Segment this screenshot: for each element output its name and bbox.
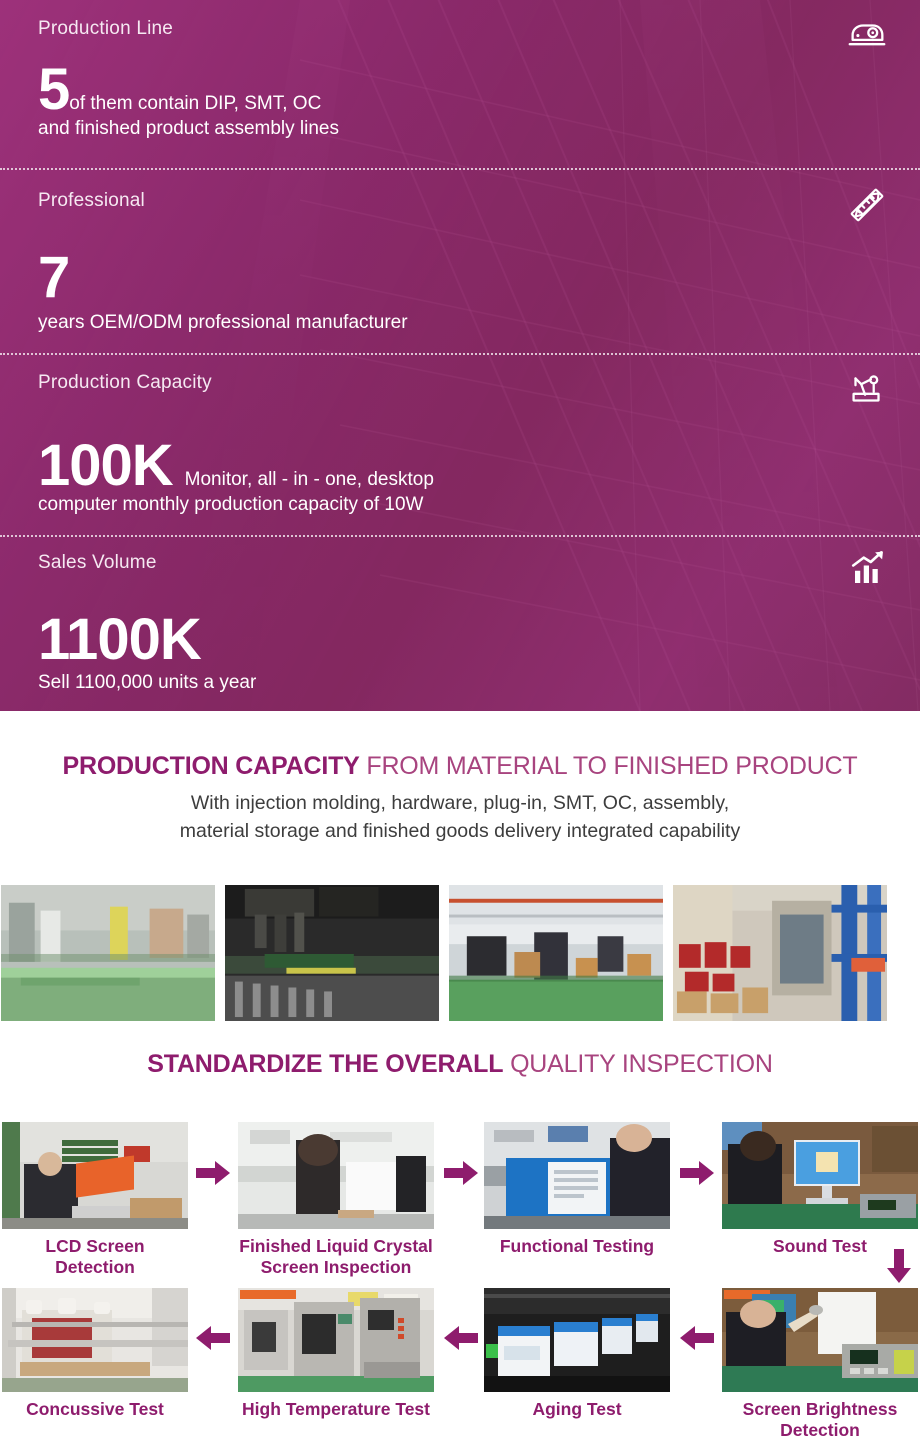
stat-desc-line2: and finished product assembly lines: [38, 117, 882, 141]
high-temperature-test-photo: [238, 1288, 434, 1392]
qc-step-high-temperature-test: High Temperature Test: [238, 1288, 434, 1420]
concussive-test-photo: [2, 1288, 188, 1392]
stat-number: 1100K: [38, 612, 201, 667]
arrow-down-1-icon: [886, 1249, 912, 1283]
qc-step-screen-brightness-detection: Screen Brightness Detection: [722, 1288, 918, 1440]
stat-production-line: Production Line 5of them contain DIP, SM…: [0, 18, 920, 141]
stat-professional: Professional 7 years OEM/ODM professiona…: [0, 190, 920, 335]
sound-test-photo: [722, 1122, 918, 1229]
stat-desc-line2: years OEM/ODM professional manufacturer: [38, 311, 882, 335]
screen-brightness-photo: [722, 1288, 918, 1392]
functional-testing-photo: [484, 1122, 670, 1229]
capacity-photo-row: [0, 884, 920, 1022]
qc-caption: Screen Brightness Detection: [722, 1399, 918, 1440]
aging-test-photo: [484, 1288, 670, 1392]
arrow-right-2-icon: [444, 1160, 478, 1186]
quality-inspection-section: STANDARDIZE THE OVERALL QUALITY INSPECTI…: [0, 1050, 920, 1079]
quality-inspection-title: STANDARDIZE THE OVERALL QUALITY INSPECTI…: [0, 1050, 920, 1079]
section-divider-2: [0, 353, 920, 355]
ruler-pen-icon: [844, 182, 890, 228]
qc-caption: Finished Liquid Crystal Screen Inspectio…: [238, 1236, 434, 1277]
arrow-right-1-icon: [196, 1160, 230, 1186]
production-capacity-section: PRODUCTION CAPACITY FROM MATERIAL TO FIN…: [0, 752, 920, 846]
production-capacity-title: PRODUCTION CAPACITY FROM MATERIAL TO FIN…: [0, 752, 920, 781]
stat-number: 5: [38, 62, 69, 117]
injection-molding-workshop-photo: [0, 884, 216, 1022]
finished-lcd-inspection-photo: [238, 1122, 434, 1229]
qc-step-sound-test: Sound Test: [722, 1122, 918, 1257]
stat-label: Sales Volume: [38, 552, 882, 574]
hero-stats-banner: Production Line 5of them contain DIP, SM…: [0, 0, 920, 711]
stat-desc-line2: computer monthly production capacity of …: [38, 493, 882, 517]
qc-caption: Aging Test: [484, 1399, 670, 1420]
machine-roller-icon: [844, 14, 890, 60]
qc-caption: LCD Screen Detection: [2, 1236, 188, 1277]
stat-number: 7: [38, 250, 69, 305]
warehouse-storage-photo: [672, 884, 888, 1022]
qc-step-functional-testing: Functional Testing: [484, 1122, 670, 1257]
qc-step-finished-lcd-inspection: Finished Liquid Crystal Screen Inspectio…: [238, 1122, 434, 1277]
stat-production-capacity: Production Capacity 100KMonitor, all - i…: [0, 372, 920, 517]
stat-desc-line2: Sell 1100,000 units a year: [38, 671, 882, 695]
arrow-left-3-icon: [196, 1325, 230, 1351]
growth-chart-icon: [848, 548, 890, 590]
title-bold-part: PRODUCTION CAPACITY: [62, 752, 359, 780]
stat-desc-inline: Monitor, all - in - one, desktop: [173, 469, 434, 490]
smt-machine-line-photo: [224, 884, 440, 1022]
section-divider-1: [0, 168, 920, 170]
qc-step-aging-test: Aging Test: [484, 1288, 670, 1420]
arrow-left-1-icon: [680, 1325, 714, 1351]
title-light-part: FROM MATERIAL TO FINISHED PRODUCT: [366, 752, 857, 780]
production-capacity-subtitle-line1: With injection molding, hardware, plug-i…: [0, 789, 920, 817]
arrow-left-2-icon: [444, 1325, 478, 1351]
qc-step-concussive-test: Concussive Test: [2, 1288, 188, 1420]
title-bold-part: STANDARDIZE THE OVERALL: [147, 1050, 503, 1078]
stat-label: Production Line: [38, 18, 882, 40]
section-divider-3: [0, 535, 920, 537]
title-light-part: QUALITY INSPECTION: [510, 1050, 773, 1078]
production-capacity-subtitle-line2: material storage and finished goods deli…: [0, 817, 920, 845]
qc-caption: Functional Testing: [484, 1236, 670, 1257]
stat-sales-volume: Sales Volume 1100K Sell 1100,000 units a…: [0, 552, 920, 695]
stat-desc-inline: of them contain DIP, SMT, OC: [69, 93, 321, 114]
lcd-screen-detection-photo: [2, 1122, 188, 1229]
infographic-page: Production Line 5of them contain DIP, SM…: [0, 0, 920, 1456]
stat-label: Professional: [38, 190, 882, 212]
qc-step-lcd-screen-detection: LCD Screen Detection: [2, 1122, 188, 1277]
stat-label: Production Capacity: [38, 372, 882, 394]
stat-number: 100K: [38, 438, 173, 493]
qc-caption: High Temperature Test: [238, 1399, 434, 1420]
arrow-right-3-icon: [680, 1160, 714, 1186]
robot-arm-icon: [844, 366, 890, 412]
assembly-line-workers-photo: [448, 884, 664, 1022]
qc-caption: Concussive Test: [2, 1399, 188, 1420]
